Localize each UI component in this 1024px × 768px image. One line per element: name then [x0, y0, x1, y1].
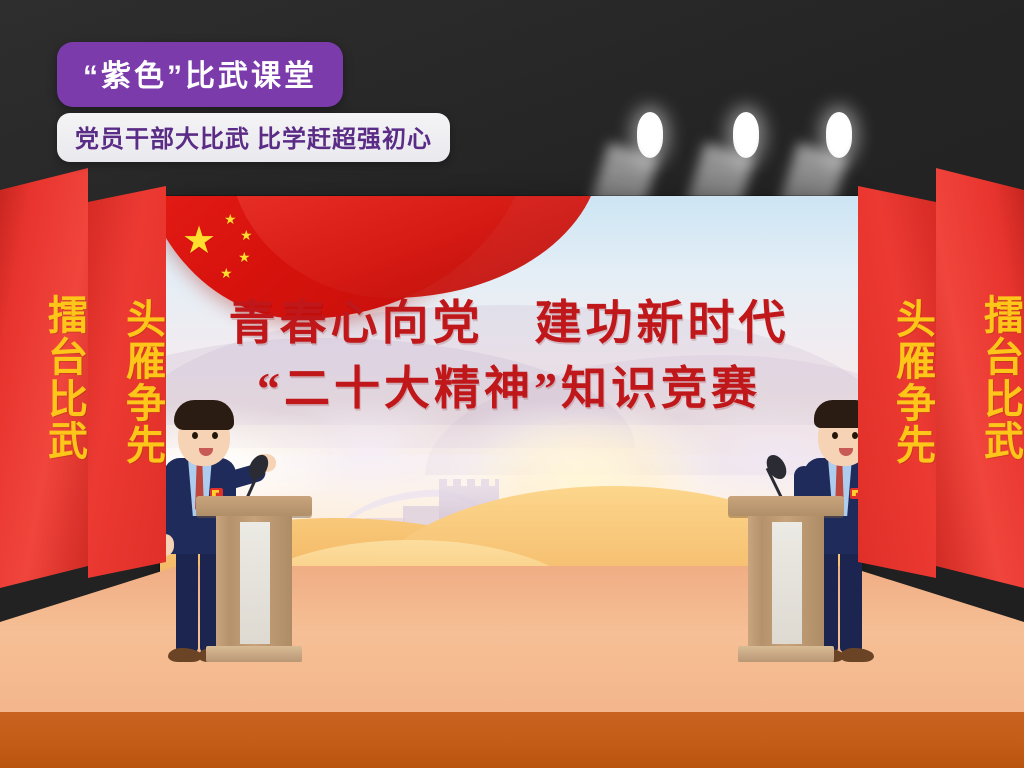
spotlight-lamp-2	[733, 112, 759, 158]
spotlight-lamp-3	[826, 112, 852, 158]
podium-left-top	[196, 496, 312, 516]
spotlight-lamp-1	[637, 112, 663, 158]
flag-star-large-icon: ★	[182, 222, 216, 260]
left-speaker-eye-1	[192, 432, 198, 439]
flag-star-small-3-icon: ★	[238, 250, 251, 264]
right-speaker-eye-1	[832, 432, 838, 439]
stage-front-edge	[0, 712, 1024, 768]
right-speaker-eye-2	[852, 432, 858, 439]
banner-outer-left: 擂台比武	[0, 168, 88, 588]
banner-outer-right: 擂台比武	[936, 168, 1024, 588]
flag-star-small-1-icon: ★	[224, 212, 237, 226]
headline-line-1: 青春心向党 建功新时代	[160, 292, 858, 357]
podium-right-base	[738, 646, 834, 662]
podium-right-top	[728, 496, 844, 516]
stage-scene: ★ ★ ★ ★ ★ 青春心向党 建功新时代 “二十大精神”知识竞赛	[0, 0, 1024, 768]
flag-star-small-4-icon: ★	[220, 266, 233, 280]
banner-outer-right-text: 擂台比武	[936, 202, 1024, 555]
podium-left-panel	[240, 522, 270, 644]
banner-outer-left-text: 擂台比武	[0, 202, 88, 555]
banner-inner-left-text: 头雁争先	[88, 217, 166, 546]
left-speaker-hair	[174, 400, 234, 430]
flag-star-small-2-icon: ★	[240, 228, 253, 242]
left-speaker-leg-1	[176, 542, 198, 652]
course-subtitle-badge: 党员干部大比武 比学赶超强初心	[57, 113, 450, 162]
left-speaker-eye-2	[212, 432, 218, 439]
right-speaker-shoe-2	[840, 648, 874, 662]
podium-right-panel	[772, 522, 802, 644]
banner-inner-left: 头雁争先	[88, 186, 166, 578]
banner-inner-right: 头雁争先	[858, 186, 936, 578]
podium-left-base	[206, 646, 302, 662]
wooden-podium-left	[196, 496, 312, 664]
banner-inner-right-text: 头雁争先	[858, 217, 936, 546]
course-title-badge: “紫色”比武课堂	[57, 42, 343, 107]
wooden-podium-right	[728, 496, 844, 664]
